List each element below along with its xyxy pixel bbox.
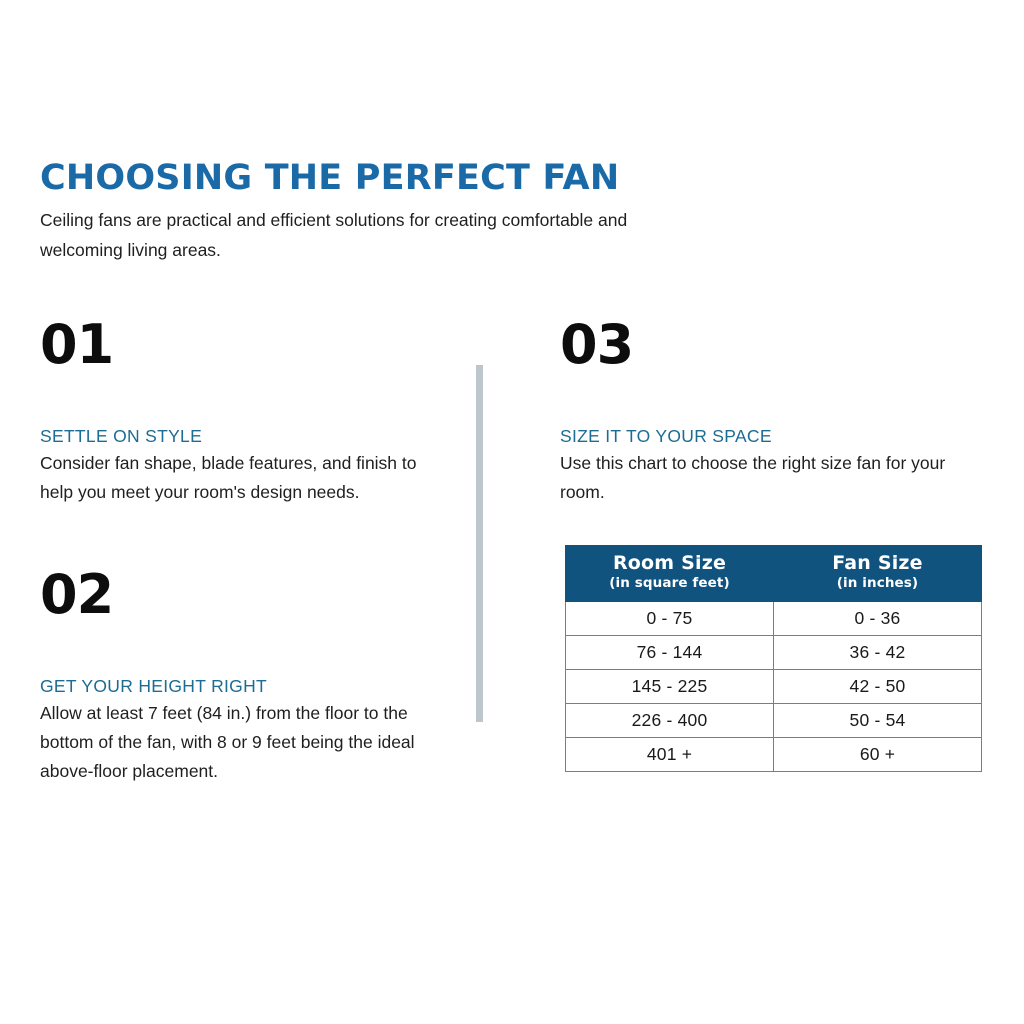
step-01-number: 01 [40, 318, 440, 372]
step-02-body: Allow at least 7 feet (84 in.) from the … [40, 699, 440, 785]
step-02: 02 GET YOUR HEIGHT RIGHT Allow at least … [40, 568, 440, 785]
cell-room-size: 401 + [566, 738, 774, 772]
column-header-fan-size: Fan Size (in inches) [774, 546, 982, 602]
cell-fan-size: 60 + [774, 738, 982, 772]
fan-size-chart: Room Size (in square feet) Fan Size (in … [565, 545, 982, 772]
step-03-body: Use this chart to choose the right size … [560, 449, 990, 506]
right-column: 03 SIZE IT TO YOUR SPACE Use this chart … [560, 318, 990, 506]
cell-fan-size: 50 - 54 [774, 704, 982, 738]
cell-room-size: 0 - 75 [566, 602, 774, 636]
room-size-unit: (in square feet) [570, 575, 769, 593]
cell-room-size: 145 - 225 [566, 670, 774, 704]
page-subtitle: Ceiling fans are practical and efficient… [40, 205, 700, 265]
column-header-room-size: Room Size (in square feet) [566, 546, 774, 602]
table-row: 145 - 225 42 - 50 [566, 670, 982, 704]
fan-size-unit: (in inches) [778, 575, 977, 593]
step-01: 01 SETTLE ON STYLE Consider fan shape, b… [40, 318, 440, 506]
column-divider [476, 365, 483, 722]
step-02-number: 02 [40, 568, 440, 622]
table-row: 76 - 144 36 - 42 [566, 636, 982, 670]
step-03-heading: SIZE IT TO YOUR SPACE [560, 426, 990, 447]
step-03-text: SIZE IT TO YOUR SPACE Use this chart to … [560, 426, 990, 506]
step-02-heading: GET YOUR HEIGHT RIGHT [40, 676, 440, 697]
table-row: 226 - 400 50 - 54 [566, 704, 982, 738]
fan-size-label: Fan Size [778, 553, 977, 575]
page-title: CHOOSING THE PERFECT FAN [40, 160, 720, 198]
step-02-text: GET YOUR HEIGHT RIGHT Allow at least 7 f… [40, 676, 440, 785]
table-row: 401 + 60 + [566, 738, 982, 772]
left-column: 01 SETTLE ON STYLE Consider fan shape, b… [40, 318, 440, 785]
cell-fan-size: 36 - 42 [774, 636, 982, 670]
cell-fan-size: 42 - 50 [774, 670, 982, 704]
step-01-body: Consider fan shape, blade features, and … [40, 449, 440, 506]
step-03-number: 03 [560, 318, 990, 372]
step-03: 03 SIZE IT TO YOUR SPACE Use this chart … [560, 318, 990, 506]
table-header-row: Room Size (in square feet) Fan Size (in … [566, 546, 982, 602]
cell-fan-size: 0 - 36 [774, 602, 982, 636]
step-01-heading: SETTLE ON STYLE [40, 426, 440, 447]
step-01-text: SETTLE ON STYLE Consider fan shape, blad… [40, 426, 440, 506]
table-row: 0 - 75 0 - 36 [566, 602, 982, 636]
cell-room-size: 76 - 144 [566, 636, 774, 670]
room-size-label: Room Size [570, 553, 769, 575]
cell-room-size: 226 - 400 [566, 704, 774, 738]
header-block: CHOOSING THE PERFECT FAN Ceiling fans ar… [40, 160, 720, 265]
